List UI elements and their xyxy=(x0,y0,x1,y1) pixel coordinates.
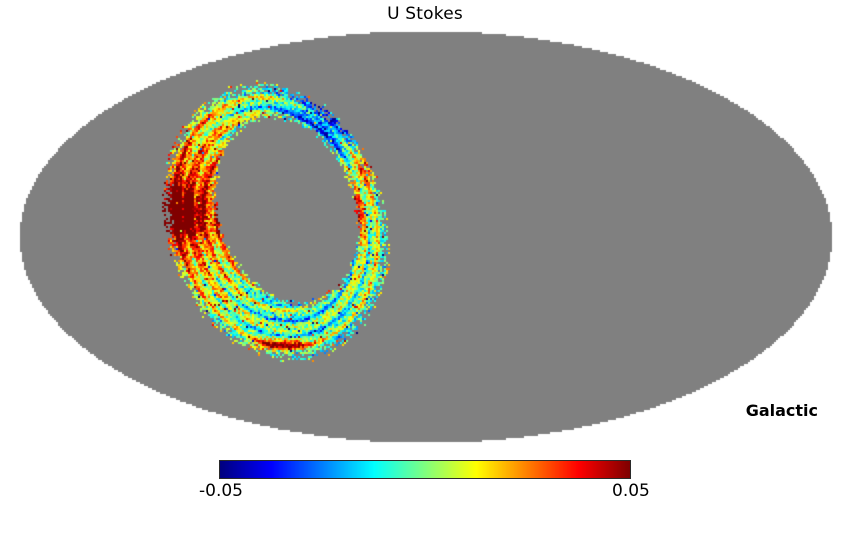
colorbar xyxy=(219,460,631,479)
colorbar-gradient xyxy=(219,460,631,479)
coordinate-system-label: Galactic xyxy=(746,401,818,420)
page-title: U Stokes xyxy=(0,4,850,24)
mollview-figure: U Stokes Galactic -0.05 0.05 xyxy=(0,0,850,540)
colorbar-min-label: -0.05 xyxy=(199,481,243,501)
sky-map-canvas xyxy=(0,26,850,450)
colorbar-max-label: 0.05 xyxy=(612,481,650,501)
